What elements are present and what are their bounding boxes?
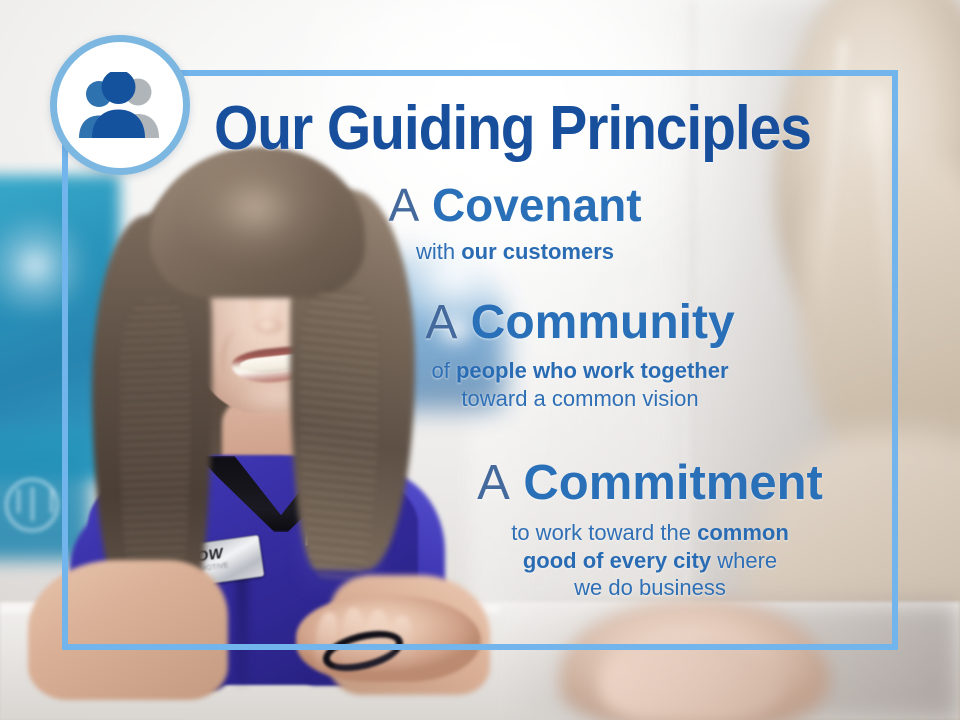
principle-block-community: A Community of people who work together … — [380, 298, 780, 412]
subtext-part: of — [431, 358, 455, 383]
subtext-part: where — [711, 548, 777, 573]
principle-word: Commitment — [523, 456, 822, 510]
page-title: Our Guiding Principles — [214, 96, 821, 162]
principle-headline: A Covenant — [340, 182, 690, 230]
principle-block-covenant: A Covenant with our customers — [340, 182, 690, 266]
principle-word: Covenant — [432, 179, 642, 231]
text-content: Our Guiding Principles A Covenant with o… — [0, 0, 960, 720]
subtext-part: toward a common vision — [461, 386, 698, 411]
subtext-part-bold: common — [697, 520, 789, 545]
subtext-part-bold: people who work together — [456, 358, 729, 383]
subtext-part: to work toward the — [511, 520, 697, 545]
subtext-part-bold: good of every city — [523, 548, 711, 573]
principle-subtext: with our customers — [340, 238, 690, 266]
principle-subtext-line: good of every city where — [440, 547, 860, 575]
guiding-principles-graphic: FLOW FLOW AUTOMOTIVE — [0, 0, 960, 720]
principle-subtext-line: we do business — [440, 574, 860, 602]
principle-article: A — [477, 456, 510, 510]
principle-subtext-line: to work toward the common — [440, 519, 860, 547]
subtext-part: we do business — [574, 575, 726, 600]
principle-subtext-line: with our customers — [340, 238, 690, 266]
principle-word: Community — [471, 296, 735, 349]
principle-block-commitment: A Commitment to work toward the common g… — [440, 458, 860, 602]
principle-article: A — [388, 179, 419, 231]
principle-subtext: to work toward the common good of every … — [440, 519, 860, 602]
principle-subtext: of people who work together toward a com… — [380, 357, 780, 412]
principle-headline: A Community — [380, 298, 780, 348]
principle-subtext-line: of people who work together — [380, 357, 780, 385]
principle-headline: A Commitment — [440, 458, 860, 509]
principle-article: A — [425, 296, 457, 349]
subtext-part: with — [416, 239, 461, 264]
subtext-part-bold: our customers — [461, 239, 614, 264]
principle-subtext-line: toward a common vision — [380, 385, 780, 413]
